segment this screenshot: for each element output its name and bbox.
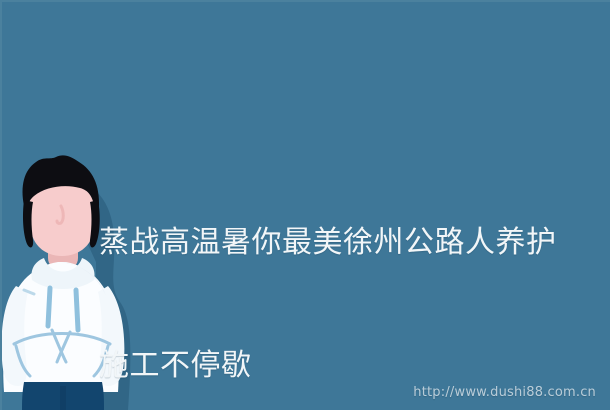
watermark-url: http://www.dushi88.com.cn [413, 385, 596, 400]
pants-icon [22, 382, 104, 410]
poster-canvas: 蒸战高温暑你最美徐州公路人养护 施工不停歇 http://www.dushi88… [0, 0, 610, 410]
page-title: 蒸战高温暑你最美徐州公路人养护 施工不停歇 [99, 140, 599, 410]
headline-line-2: 施工不停歇 [99, 345, 599, 386]
headline-line-1: 蒸战高温暑你最美徐州公路人养护 [99, 222, 599, 263]
